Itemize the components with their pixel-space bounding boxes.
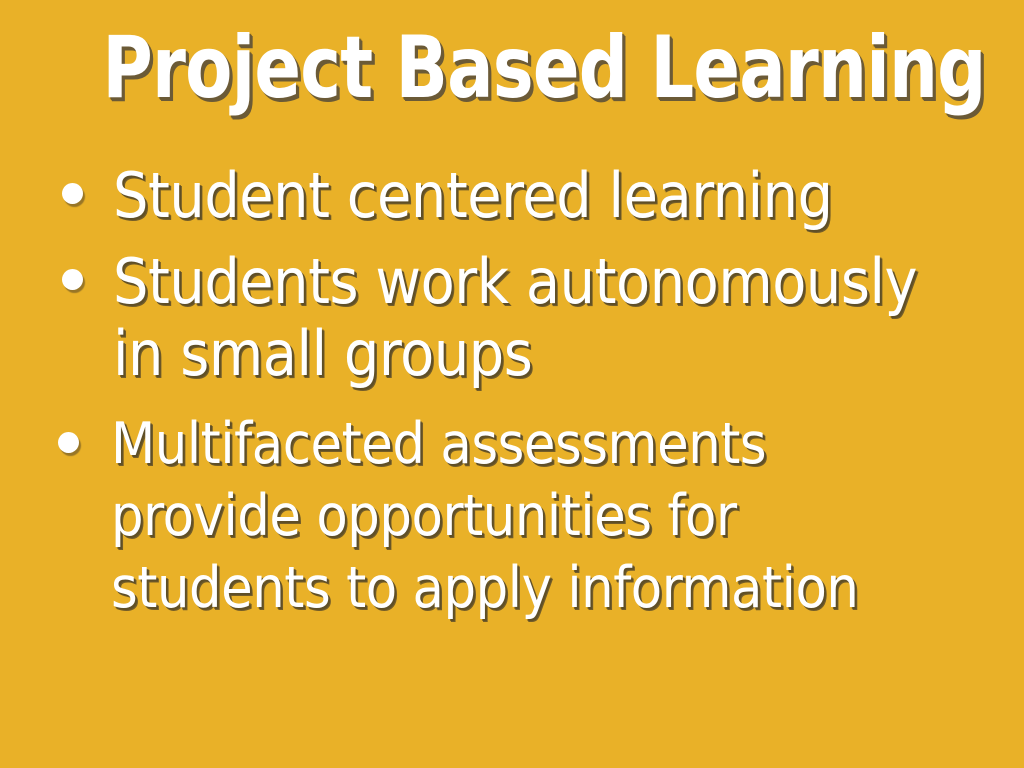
bullet-dot-icon xyxy=(58,432,79,453)
presentation-slide: Project Based Learning Student centered … xyxy=(0,0,1024,768)
list-item-text: Multifaceted assessments provide opportu… xyxy=(111,408,1024,624)
list-item-text: Students work autonomously in small grou… xyxy=(113,246,1024,390)
text-line: in small groups xyxy=(113,318,933,390)
page-title: Project Based Learning xyxy=(102,20,921,116)
text-line: Students work autonomously xyxy=(113,246,933,318)
list-item: Student centered learning xyxy=(0,160,1024,232)
bullet-dot-icon xyxy=(62,183,83,204)
text-line: Multifaceted assessments xyxy=(111,408,933,480)
list-item-text: Student centered learning xyxy=(113,160,1024,232)
bullet-dot-icon xyxy=(62,269,83,290)
text-line: students to apply information xyxy=(111,552,933,624)
text-line: Student centered learning xyxy=(113,160,933,232)
list-item: Students work autonomously in small grou… xyxy=(0,246,1024,390)
list-item: Multifaceted assessments provide opportu… xyxy=(0,408,1024,624)
bullet-list: Student centered learning Students work … xyxy=(0,160,1024,624)
text-line: provide opportunities for xyxy=(111,480,933,552)
